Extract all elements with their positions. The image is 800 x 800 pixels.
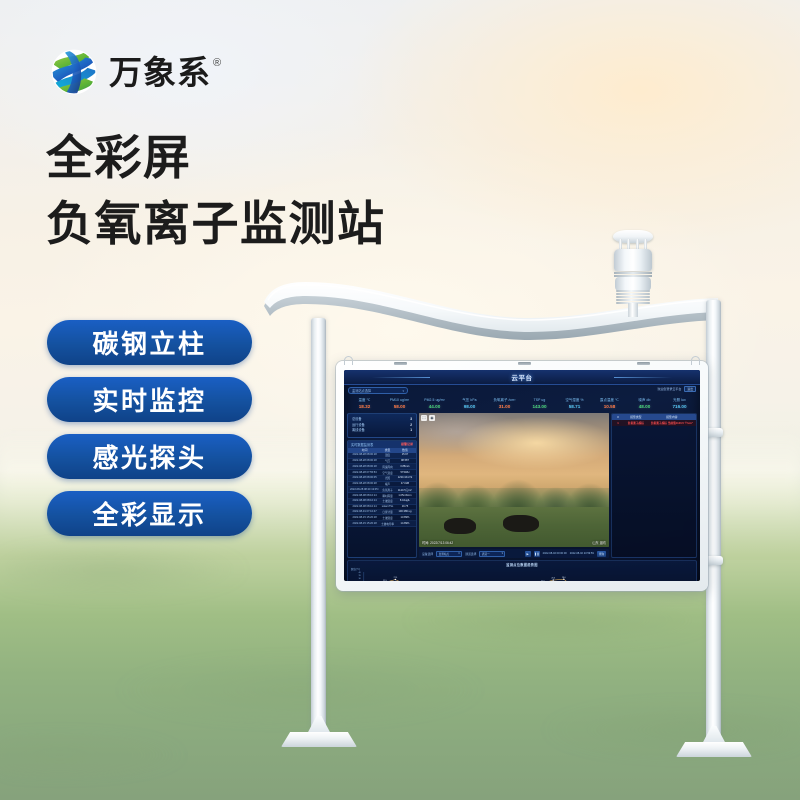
column-header-type: 类型 bbox=[379, 448, 396, 452]
cell-value: 57%RH bbox=[396, 471, 414, 475]
metric-dew-point: 露点温度 ℃ 10.58 bbox=[592, 397, 627, 410]
svg-text:28.0: 28.0 bbox=[562, 577, 566, 579]
device-stats-card: 总设备 3 运行设备 2 离线设备 1 bbox=[347, 413, 417, 438]
metric-pm25: PM2.5 ug/m³ 44.00 bbox=[417, 397, 452, 410]
video-channel-label: 山东 潍坊 bbox=[592, 540, 606, 545]
support-column-right bbox=[706, 300, 721, 740]
timestamp-label: 时间: bbox=[422, 541, 429, 545]
cow-figure bbox=[444, 518, 476, 534]
center-pane: ⛶ ◉ 时间: 2022/7/13 06:42 山东 潍坊 设备选择 bbox=[419, 413, 609, 558]
metric-negative-oxygen-ion: 负氧离子 /cm³ 31.00 bbox=[487, 397, 522, 410]
station-selector-row: 监测站点选择 ▾ 欢迎您登录云平台 退出 bbox=[344, 385, 700, 396]
trend-line-chart: 051015202530354012.516.022.527.519.013.5… bbox=[348, 567, 696, 581]
chevron-down-icon: ▾ bbox=[502, 552, 503, 555]
support-column-left bbox=[311, 318, 326, 730]
chart-y-axis-label: 数值(℃) bbox=[351, 567, 360, 571]
play-icon[interactable]: ▶ bbox=[525, 551, 531, 557]
cell-value: 1230.16mTk bbox=[396, 476, 414, 480]
station-selector-value: 监测站点选择 bbox=[352, 388, 371, 393]
base-plate-slab bbox=[281, 732, 357, 747]
end-time-value[interactable]: 2022-08-02 23:59:59 bbox=[570, 552, 594, 555]
left-pane: 总设备 3 运行设备 2 离线设备 1 bbox=[347, 413, 417, 558]
cell-time: 2022-08-28 08:00:05 bbox=[350, 476, 379, 480]
video-control-bar: 设备选择 监测站点 ▾ 通道选择 通道一 ▾ ▶ bbox=[419, 549, 609, 558]
svg-text:30: 30 bbox=[358, 578, 361, 580]
video-timestamp: 时间: 2022/7/13 06:42 bbox=[422, 540, 453, 545]
cell-type: 光照 bbox=[379, 476, 396, 480]
cell-type: 土壤电导率 bbox=[379, 522, 396, 526]
base-plate-slab bbox=[676, 742, 752, 757]
metric-value: 58.71 bbox=[557, 403, 592, 410]
start-time-value[interactable]: 2022-08-02 00:00:00 bbox=[543, 552, 567, 555]
led-display-monitor: 云平台 监测站点选择 ▾ 欢迎您登录云平台 退出 bbox=[336, 361, 708, 591]
table-header: 实时数据监测表 报警记录 bbox=[348, 441, 416, 448]
metric-value: 10.58 bbox=[592, 403, 627, 410]
monitor-mount-tab bbox=[394, 362, 407, 365]
device-select-value: 监测站点 bbox=[439, 552, 449, 556]
base-gusset bbox=[307, 716, 331, 734]
timestamp-value: 2022/7/13 06:42 bbox=[430, 541, 453, 545]
cell-value: 1120.5元/m³ bbox=[396, 488, 414, 492]
cell-type: 温度 bbox=[379, 453, 396, 457]
channel-select-label: 通道选择 bbox=[465, 552, 476, 556]
monitoring-station-structure: 云平台 监测站点选择 ▾ 欢迎您登录云平台 退出 bbox=[0, 0, 800, 800]
header-decoration-right bbox=[614, 377, 672, 378]
monitor-mount-tab bbox=[518, 362, 531, 365]
trend-chart-panel: 监测点位数据趋势图 数值(℃) 051015202530354012.516.0… bbox=[347, 560, 697, 581]
stat-offline-devices: 离线设备 1 bbox=[352, 428, 412, 434]
channel-select[interactable]: 通道一 ▾ bbox=[479, 551, 505, 557]
header-decoration-left bbox=[372, 377, 430, 378]
svg-text:26.5: 26.5 bbox=[551, 578, 555, 580]
dashboard-screen: 云平台 监测站点选择 ▾ 欢迎您登录云平台 退出 bbox=[344, 370, 700, 581]
cell-type: 土壤湿度 bbox=[379, 516, 396, 520]
cell-type: solarsTSL bbox=[379, 505, 396, 508]
svg-text:27.5: 27.5 bbox=[394, 577, 398, 579]
device-select-label: 设备选择 bbox=[422, 552, 433, 556]
metric-pm10: PM10 ug/m³ 58.00 bbox=[382, 397, 417, 410]
metric-noise: 噪声 db 48.00 bbox=[627, 397, 662, 410]
table-row: 2022-08-15 15:20:18土壤电导率14.89% bbox=[348, 521, 416, 527]
product-promo-image: 万象系 ® 全彩屏 负氧离子监测站 碳钢立柱 实时监控 感光探头 全彩显示 bbox=[0, 0, 800, 800]
station-selector[interactable]: 监测站点选择 ▾ bbox=[348, 387, 408, 394]
base-plate-right bbox=[676, 726, 752, 760]
column-header-time: 时间 bbox=[350, 448, 379, 452]
cell-time: 2022-08-28 08:00:28 bbox=[350, 482, 379, 486]
dashboard-title: 云平台 bbox=[511, 372, 532, 382]
alarm-content: 负氧离子超标 当前值1120.5 个/cm³ bbox=[650, 421, 694, 425]
stat-value: 1 bbox=[410, 428, 412, 434]
cell-value: 47.0dB bbox=[396, 482, 414, 486]
svg-text:40: 40 bbox=[358, 572, 361, 574]
dashboard-body: 总设备 3 运行设备 2 离线设备 1 bbox=[344, 413, 700, 558]
cell-value: 1.05mS/cm bbox=[396, 494, 414, 498]
table-title: 实时数据监测表 bbox=[351, 442, 373, 447]
metric-value: 716.00 bbox=[662, 403, 697, 410]
cell-type: 空气湿度 bbox=[379, 471, 396, 475]
chevron-down-icon: ▾ bbox=[402, 389, 404, 393]
metric-value: 58.00 bbox=[382, 403, 417, 410]
chevron-down-icon: ▾ bbox=[458, 552, 459, 555]
fullscreen-icon[interactable]: ⛶ bbox=[421, 415, 427, 421]
metric-value: 143.00 bbox=[522, 403, 557, 410]
cell-type: 日累计量 bbox=[379, 510, 396, 514]
device-select[interactable]: 监测站点 ▾ bbox=[436, 551, 462, 557]
column-header-value: 数值 bbox=[396, 448, 414, 452]
monitor-hook-left-icon bbox=[344, 356, 353, 365]
cell-time: 2022-08-28 08:00:18 bbox=[350, 465, 379, 469]
table-rows: 2022-08-28 08:00:18温度15.972022-08-28 08:… bbox=[348, 453, 416, 557]
sensor-ring bbox=[614, 272, 652, 274]
metric-value: 48.00 bbox=[627, 403, 662, 410]
dashboard-header: 云平台 bbox=[344, 370, 700, 385]
ultrasonic-weather-sensor-icon bbox=[604, 222, 662, 314]
metric-tsp: TSP ug 143.00 bbox=[522, 397, 557, 410]
alarm-log-panel: # 报警类型 报警内容 1 负氧离子超标 负氧离子超标 当前值1120.5 个/… bbox=[611, 413, 697, 558]
cell-time: 2022-08-28 08:00:18 bbox=[350, 453, 379, 457]
cell-value: 14.89% bbox=[396, 522, 414, 526]
cell-time: 2022-08-01 07:10:47 bbox=[350, 510, 379, 514]
stat-label: 离线设备 bbox=[352, 428, 365, 434]
video-toolbar: ⛶ ◉ bbox=[421, 415, 435, 421]
cell-type: 负氧离子 bbox=[379, 488, 396, 492]
cell-type: 风速风向 bbox=[379, 465, 396, 469]
cell-value: 98.587 bbox=[396, 459, 414, 463]
channel-select-value: 通道一 bbox=[482, 552, 490, 556]
right-pane: # 报警类型 报警内容 1 负氧离子超标 负氧离子超标 当前值1120.5 个/… bbox=[611, 413, 697, 558]
metrics-strip: 温度 ℃ 18.32 PM10 ug/m³ 58.00 PM2.5 ug/m³ … bbox=[344, 396, 700, 413]
cell-time: 2022-08-08 08:10:14 bbox=[350, 499, 379, 503]
cell-time: 2022-08-08 08:10:14 bbox=[350, 494, 379, 498]
alarm-type: 负氧离子超标 bbox=[622, 421, 650, 425]
cell-time: 2022-08-15 15:20:18 bbox=[350, 522, 379, 526]
metric-humidity: 空气湿度 % 58.71 bbox=[557, 397, 592, 410]
metric-value: 31.00 bbox=[487, 403, 522, 410]
base-plate-left bbox=[281, 716, 357, 750]
monitor-mount-tab bbox=[637, 362, 650, 365]
cell-time: 2022-08-28 07:55:53 bbox=[350, 471, 379, 475]
cell-time: 2022-08-28 08:20 13:05:18 bbox=[350, 488, 379, 492]
metric-value: 18.32 bbox=[347, 403, 382, 410]
snapshot-icon[interactable]: ◉ bbox=[429, 415, 435, 421]
account-greeting: 欢迎您登录云平台 bbox=[657, 387, 681, 391]
cow-figure bbox=[503, 515, 539, 532]
pause-icon[interactable]: ❚❚ bbox=[534, 551, 540, 557]
alarm-empty-area bbox=[612, 426, 696, 557]
metric-illuminance: 光照 lux 716.00 bbox=[662, 397, 697, 410]
alarm-link[interactable]: 报警记录 bbox=[401, 442, 413, 446]
cell-value: 8.44ug/L bbox=[396, 499, 414, 503]
cell-value: 100.386 ug bbox=[396, 510, 414, 514]
metric-value: 98.00 bbox=[452, 403, 487, 410]
cell-value: 15.97 bbox=[396, 453, 414, 457]
cell-type: 噪声 bbox=[379, 482, 396, 486]
alarm-index: 1 bbox=[614, 422, 622, 425]
cell-type: 气压 bbox=[379, 459, 396, 463]
sensor-body-upper bbox=[614, 249, 652, 271]
cell-value: 0.88m/s bbox=[396, 465, 414, 469]
metric-temperature: 温度 ℃ 18.32 bbox=[347, 397, 382, 410]
alarm-col-content: 报警内容 bbox=[650, 415, 694, 419]
cell-value: 19.75 bbox=[396, 505, 414, 508]
base-gusset bbox=[702, 726, 726, 744]
alarm-col-index: # bbox=[614, 415, 622, 419]
live-camera-feed[interactable]: ⛶ ◉ 时间: 2022/7/13 06:42 山东 潍坊 bbox=[419, 413, 609, 547]
cell-time: 2022-08-08 08:10:14 bbox=[350, 505, 379, 508]
metric-pressure: 气压 kPa 98.00 bbox=[452, 397, 487, 410]
cell-type: 瞬时雨量 bbox=[379, 494, 396, 498]
svg-text:22.5: 22.5 bbox=[383, 580, 387, 581]
metric-value: 44.00 bbox=[417, 403, 452, 410]
monitor-hook-right-icon bbox=[691, 356, 700, 365]
alarm-col-type: 报警类型 bbox=[622, 415, 650, 419]
svg-text:35: 35 bbox=[358, 575, 361, 577]
realtime-data-table: 实时数据监测表 报警记录 时间 类型 数值 2022-08-28 08:00:1… bbox=[347, 440, 417, 558]
logout-button[interactable]: 退出 bbox=[684, 386, 696, 392]
cell-type: 土壤温度 bbox=[379, 499, 396, 503]
cell-time: 2022-08-28 08:00:18 bbox=[350, 459, 379, 463]
sensor-mast bbox=[628, 303, 638, 317]
account-area: 欢迎您登录云平台 退出 bbox=[657, 386, 696, 392]
cell-value: 13.89% bbox=[396, 516, 414, 520]
cell-time: 2022-08-15 15:20:18 bbox=[350, 516, 379, 520]
radiation-shield-fins bbox=[616, 290, 650, 304]
sensor-body-lower bbox=[615, 277, 651, 291]
query-button[interactable]: 查询 bbox=[597, 551, 606, 557]
